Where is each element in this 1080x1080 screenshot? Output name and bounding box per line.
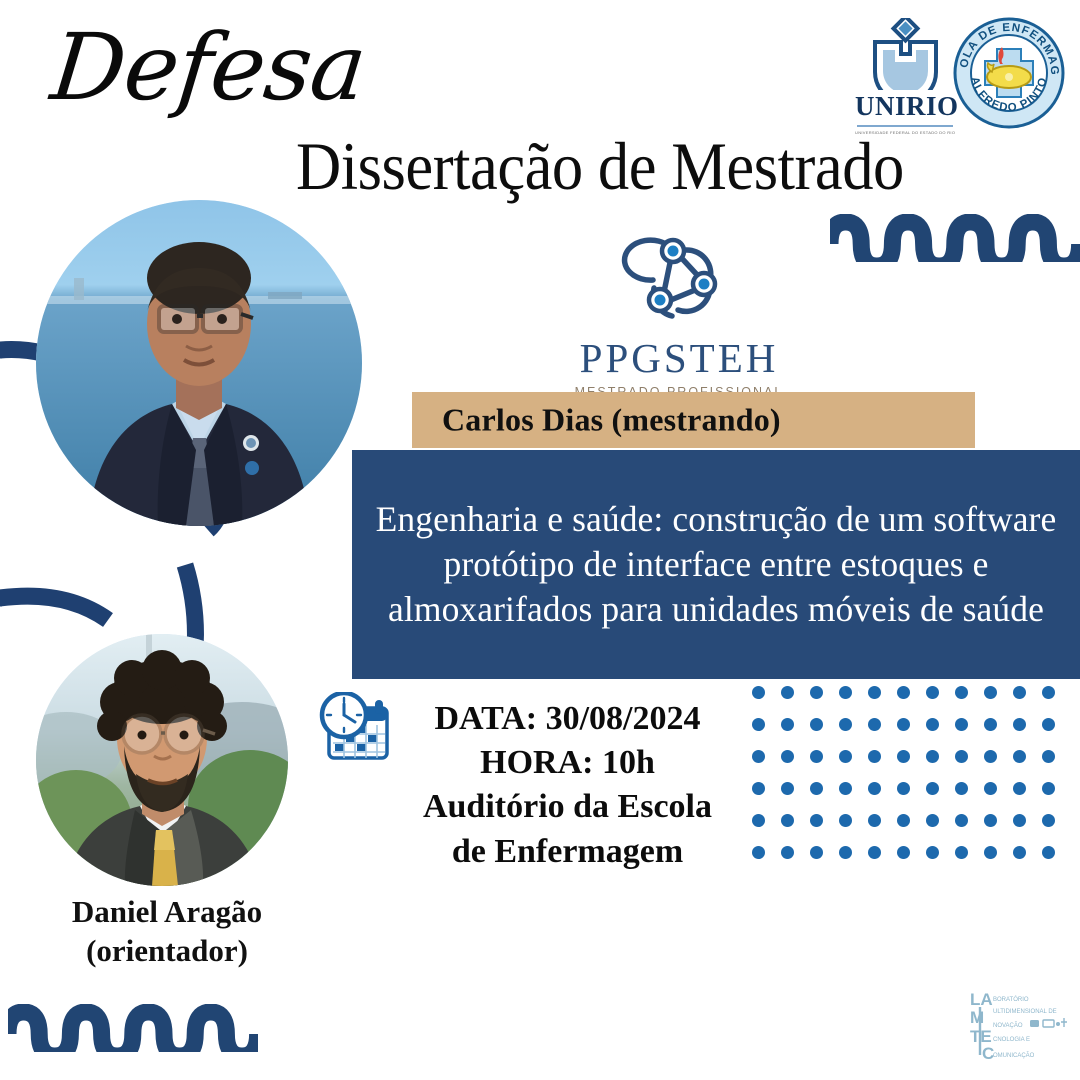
dot — [897, 686, 910, 699]
svg-text:ULTIDIMENSIONAL DE: ULTIDIMENSIONAL DE — [993, 1009, 1057, 1015]
dot — [839, 782, 852, 795]
event-venue-line-1: Auditório da Escola — [395, 785, 740, 829]
advisor-caption: Daniel Aragão (orientador) — [22, 893, 312, 971]
dot — [810, 686, 823, 699]
dot — [868, 750, 881, 763]
dot — [984, 782, 997, 795]
dot — [1013, 846, 1026, 859]
dot — [1042, 846, 1055, 859]
dot — [1013, 686, 1026, 699]
dot — [926, 718, 939, 731]
dot — [839, 718, 852, 731]
poster-canvas: Defesa Dissertação de Mestrado UNIRIO UN… — [0, 0, 1080, 1080]
dot — [984, 718, 997, 731]
dot — [1042, 718, 1055, 731]
dot — [752, 718, 765, 731]
wave-decoration-top — [830, 214, 1080, 262]
dot — [810, 782, 823, 795]
dot — [868, 846, 881, 859]
dot — [984, 750, 997, 763]
dot — [1042, 814, 1055, 827]
dot-grid-row — [752, 846, 1071, 878]
dot — [752, 846, 765, 859]
svg-text:CNOLOGIA E: CNOLOGIA E — [993, 1037, 1030, 1043]
dot — [1013, 750, 1026, 763]
unirio-wordmark: UNIRIO — [855, 93, 955, 120]
dot — [984, 814, 997, 827]
dot — [984, 686, 997, 699]
ppgsteh-network-icon — [614, 228, 744, 336]
dot — [984, 846, 997, 859]
dot-grid-row — [752, 718, 1071, 750]
student-name-bar: Carlos Dias (mestrando) — [412, 392, 975, 448]
advisor-photo — [36, 634, 288, 886]
svg-text:OMUNICAÇÃO: OMUNICAÇÃO — [993, 1052, 1035, 1059]
dot — [897, 782, 910, 795]
dot — [839, 846, 852, 859]
advisor-photo-image — [36, 634, 288, 886]
dot — [839, 814, 852, 827]
dot — [1013, 718, 1026, 731]
dot-grid-row — [752, 782, 1071, 814]
dot — [752, 750, 765, 763]
dot — [839, 750, 852, 763]
event-time: HORA: 10h — [395, 741, 740, 785]
dot — [752, 782, 765, 795]
dot — [810, 814, 823, 827]
dot — [810, 750, 823, 763]
dot — [926, 846, 939, 859]
page-title: Dissertação de Mestrado — [296, 132, 904, 200]
dot — [955, 718, 968, 731]
event-date: DATA: 30/08/2024 — [395, 697, 740, 741]
event-details: DATA: 30/08/2024 HORA: 10h Auditório da … — [395, 697, 740, 874]
dot — [868, 814, 881, 827]
unirio-tagline: UNIVERSIDADE FEDERAL DO ESTADO DO RIO DE… — [855, 130, 955, 135]
dot-grid-row — [752, 686, 1071, 718]
student-photo-image — [36, 200, 362, 526]
dot — [752, 814, 765, 827]
lamitec-logo: LA M TE C BORATÓRIO ULTIDIMENSIONAL DE N… — [968, 985, 1072, 1067]
dot — [839, 686, 852, 699]
dot — [1042, 686, 1055, 699]
escola-enfermagem-seal-icon: ESCOLA DE ENFERMAGEM ALFREDO PINTO — [950, 14, 1068, 132]
dot — [1013, 814, 1026, 827]
dot-grid-row — [752, 750, 1071, 782]
dot — [781, 718, 794, 731]
dot — [897, 718, 910, 731]
advisor-role: (orientador) — [22, 932, 312, 971]
dot — [926, 686, 939, 699]
dot — [955, 782, 968, 795]
dot — [1013, 782, 1026, 795]
ppgsteh-acronym: PPGSTEH — [548, 338, 810, 379]
dot-grid-decoration — [752, 686, 1071, 878]
dot — [781, 686, 794, 699]
dot — [781, 846, 794, 859]
dot — [781, 814, 794, 827]
wave-decoration-bottom — [8, 1004, 258, 1052]
dot — [752, 686, 765, 699]
dot — [1042, 782, 1055, 795]
dot — [897, 750, 910, 763]
student-photo — [36, 200, 362, 526]
dot — [955, 846, 968, 859]
event-venue-line-2: de Enfermagem — [395, 830, 740, 874]
dot-grid-row — [752, 814, 1071, 846]
dot — [781, 750, 794, 763]
dot — [955, 686, 968, 699]
dot — [1042, 750, 1055, 763]
dot — [810, 718, 823, 731]
dot — [955, 814, 968, 827]
dot — [868, 718, 881, 731]
ppgsteh-logo: PPGSTEH MESTRADO PROFISSIONAL — [548, 228, 810, 399]
dot — [926, 750, 939, 763]
unirio-rule — [857, 125, 953, 127]
dot — [926, 814, 939, 827]
dot — [926, 782, 939, 795]
dot — [810, 846, 823, 859]
dot — [897, 846, 910, 859]
dissertation-title: Engenharia e saúde: construção de um sof… — [352, 497, 1080, 632]
unirio-mark-icon — [855, 18, 955, 90]
svg-text:M: M — [970, 1008, 984, 1027]
dot — [955, 750, 968, 763]
dissertation-title-block: Engenharia e saúde: construção de um sof… — [352, 450, 1080, 679]
svg-text:BORATÓRIO: BORATÓRIO — [993, 996, 1029, 1003]
dot — [781, 782, 794, 795]
clock-calendar-icon — [317, 692, 395, 764]
svg-text:NOVAÇÃO: NOVAÇÃO — [993, 1022, 1023, 1029]
dot — [897, 814, 910, 827]
student-name-label: Carlos Dias (mestrando) — [442, 402, 781, 439]
page-title-script: Defesa — [47, 22, 369, 114]
dot — [868, 782, 881, 795]
svg-text:LA: LA — [970, 990, 993, 1009]
advisor-name: Daniel Aragão — [22, 893, 312, 932]
dot — [868, 686, 881, 699]
unirio-logo: UNIRIO UNIVERSIDADE FEDERAL DO ESTADO DO… — [855, 18, 955, 136]
